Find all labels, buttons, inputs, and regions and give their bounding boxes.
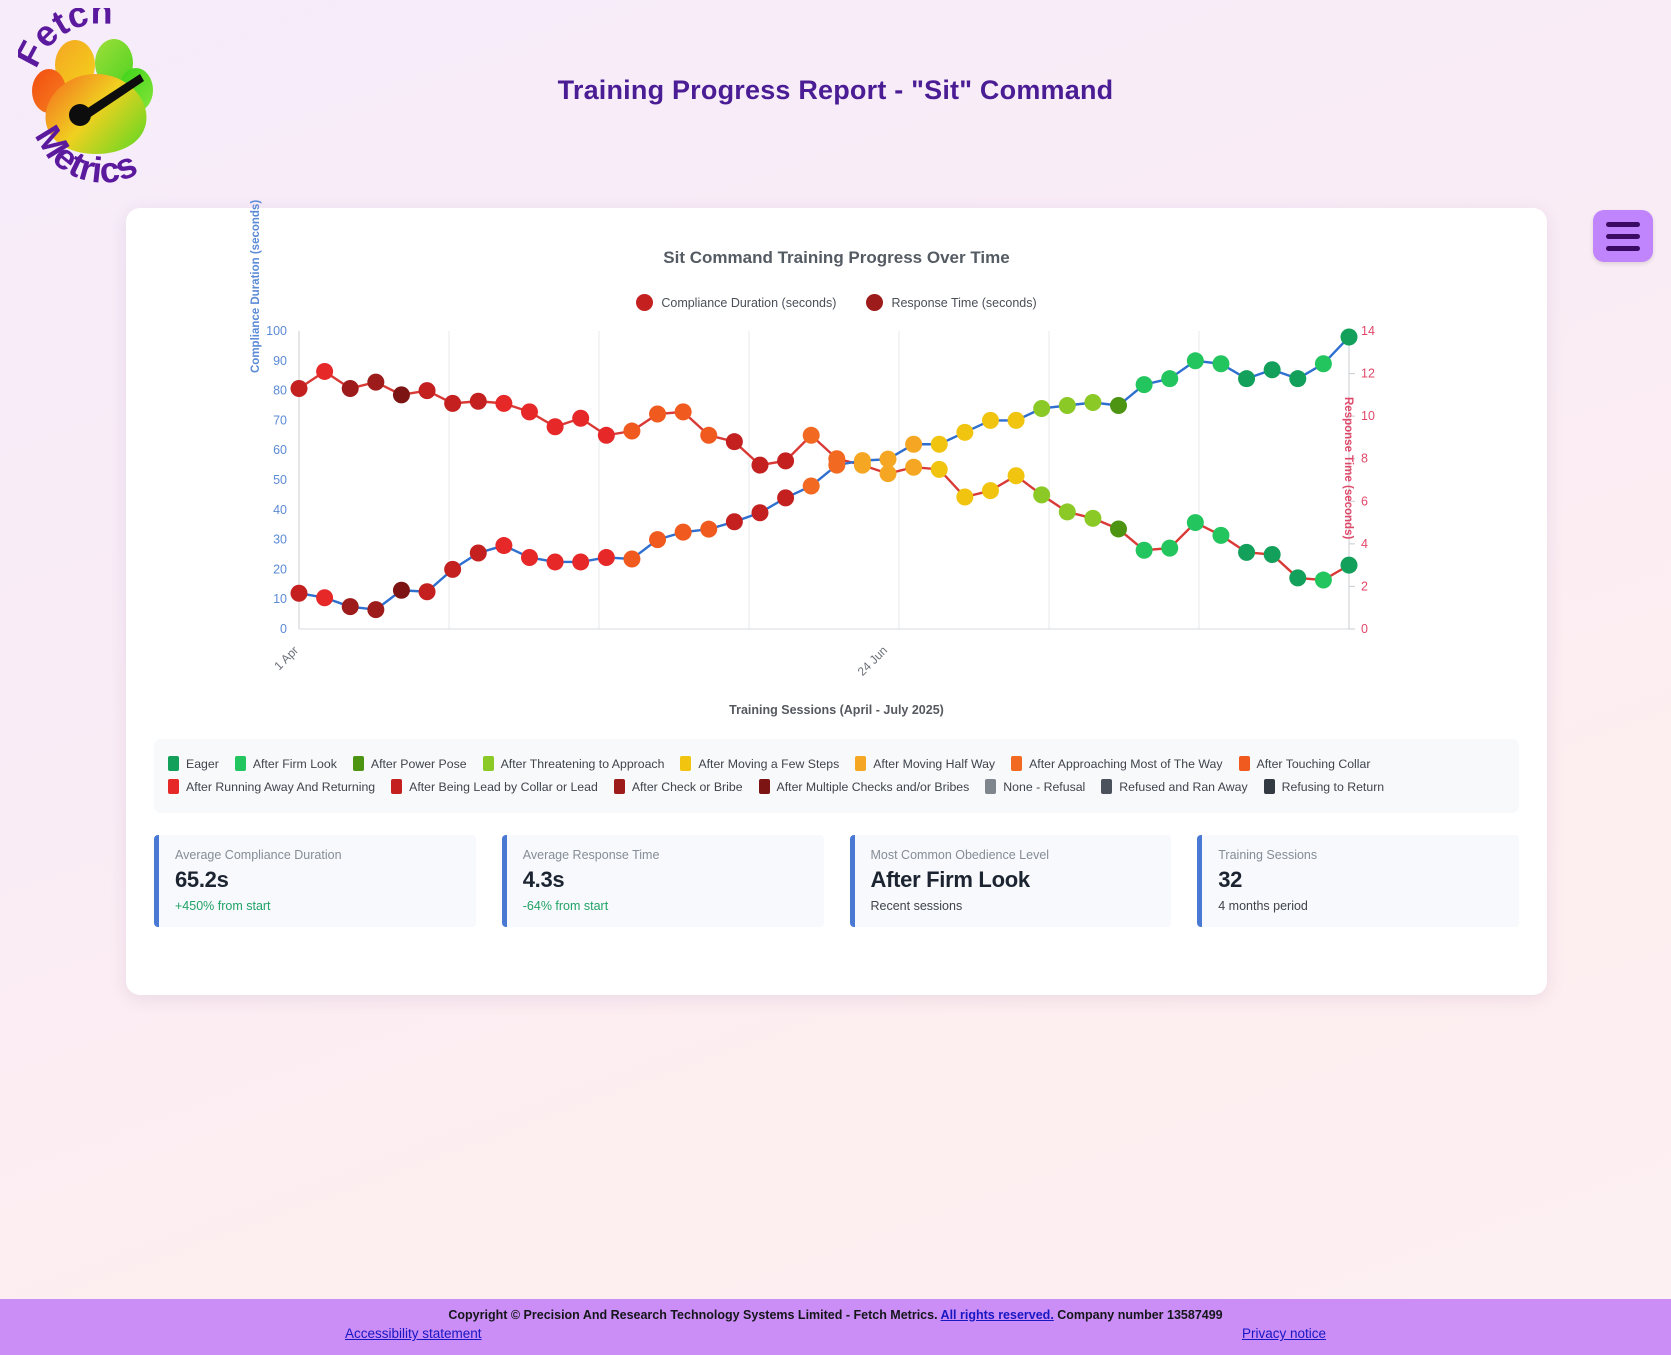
stat-card: Average Response Time4.3s-64% from start — [502, 835, 824, 927]
legend-swatch-icon — [235, 756, 246, 771]
response-point — [342, 380, 359, 397]
svg-text:14: 14 — [1361, 324, 1375, 338]
compliance-point — [726, 513, 743, 530]
series-legend: Compliance Duration (seconds)Response Ti… — [154, 294, 1519, 311]
accessibility-statement-link[interactable]: Accessibility statement — [345, 1326, 482, 1341]
compliance-point — [470, 545, 487, 562]
chart-title: Sit Command Training Progress Over Time — [154, 248, 1519, 268]
response-point — [419, 382, 436, 399]
category-legend-label: After Moving a Few Steps — [698, 757, 839, 771]
menu-bar-2 — [1606, 234, 1640, 239]
footer-copy-before: Copyright © Precision And Research Techn… — [448, 1308, 940, 1322]
svg-text:0: 0 — [280, 622, 287, 636]
stat-value: 4.3s — [523, 867, 808, 893]
compliance-point — [982, 412, 999, 429]
category-legend-label: After Power Pose — [371, 757, 467, 771]
response-point — [931, 461, 948, 478]
response-point — [1161, 540, 1178, 557]
series-legend-item[interactable]: Response Time (seconds) — [866, 294, 1036, 311]
category-legend-label: Eager — [186, 757, 219, 771]
response-point — [675, 403, 692, 420]
legend-swatch-icon — [985, 779, 996, 794]
compliance-point — [316, 589, 333, 606]
legend-swatch-icon — [759, 779, 770, 794]
category-legend-item[interactable]: After Touching Collar — [1239, 756, 1371, 771]
compliance-point — [623, 550, 640, 567]
response-point — [726, 433, 743, 450]
response-point — [649, 406, 666, 423]
compliance-point — [1136, 376, 1153, 393]
response-point — [982, 482, 999, 499]
response-point — [393, 386, 410, 403]
category-legend-label: After Approaching Most of The Way — [1029, 757, 1222, 771]
compliance-point — [547, 553, 564, 570]
stat-subtext: -64% from start — [523, 899, 808, 913]
compliance-point — [1315, 355, 1332, 372]
stat-value: After Firm Look — [871, 867, 1156, 893]
category-legend-label: After Firm Look — [253, 757, 337, 771]
response-point — [1008, 467, 1025, 484]
response-point — [1238, 544, 1255, 561]
svg-text:70: 70 — [273, 413, 287, 427]
compliance-point — [854, 452, 871, 469]
legend-swatch-icon — [1264, 779, 1275, 794]
svg-text:12: 12 — [1361, 367, 1375, 381]
svg-text:2: 2 — [1361, 579, 1368, 593]
response-point — [1136, 542, 1153, 559]
category-legend-label: Refused and Ran Away — [1119, 780, 1247, 794]
stat-subtext: +450% from start — [175, 899, 460, 913]
category-legend-item[interactable]: After Power Pose — [353, 756, 467, 771]
svg-text:0: 0 — [1361, 622, 1368, 636]
compliance-point — [1238, 370, 1255, 387]
compliance-point — [444, 561, 461, 578]
y-axis-right-label: Response Time (seconds) — [1342, 397, 1354, 539]
category-legend-item[interactable]: After Moving a Few Steps — [680, 756, 839, 771]
response-point — [1110, 520, 1127, 537]
response-point — [1033, 486, 1050, 503]
compliance-point — [1008, 412, 1025, 429]
footer-copyright: Copyright © Precision And Research Techn… — [0, 1308, 1671, 1322]
category-legend-item[interactable]: Refused and Ran Away — [1101, 779, 1247, 794]
svg-text:1 Apr: 1 Apr — [271, 643, 301, 673]
compliance-point — [393, 582, 410, 599]
response-point — [1059, 503, 1076, 520]
svg-text:20: 20 — [273, 562, 287, 576]
chart-plot-area: Compliance Duration (seconds) Response T… — [154, 317, 1519, 687]
response-point — [444, 395, 461, 412]
response-point — [495, 395, 512, 412]
svg-text:50: 50 — [273, 473, 287, 487]
series-legend-label: Compliance Duration (seconds) — [661, 296, 836, 310]
response-point — [700, 427, 717, 444]
hamburger-menu-icon[interactable] — [1593, 210, 1653, 262]
category-legend-item[interactable]: Eager — [168, 756, 219, 771]
compliance-point — [1059, 397, 1076, 414]
legend-swatch-icon — [1239, 756, 1250, 771]
legend-swatch-icon — [391, 779, 402, 794]
compliance-point — [700, 521, 717, 538]
compliance-point — [1084, 394, 1101, 411]
category-legend-label: Refusing to Return — [1282, 780, 1385, 794]
response-point — [1289, 569, 1306, 586]
category-legend-item[interactable]: After Being Lead by Collar or Lead — [391, 779, 598, 794]
category-legend-label: After Threatening to Approach — [501, 757, 665, 771]
response-point — [751, 457, 768, 474]
svg-text:24 Jun: 24 Jun — [855, 643, 890, 678]
legend-dot-icon — [636, 294, 653, 311]
stat-card: Average Compliance Duration65.2s+450% fr… — [154, 835, 476, 927]
compliance-point — [495, 537, 512, 554]
category-legend-item[interactable]: After Approaching Most of The Way — [1011, 756, 1222, 771]
response-point — [1315, 572, 1332, 589]
legend-swatch-icon — [680, 756, 691, 771]
category-legend-item[interactable]: After Threatening to Approach — [483, 756, 665, 771]
category-legend-item[interactable]: None - Refusal — [985, 779, 1085, 794]
stat-label: Most Common Obedience Level — [871, 848, 1156, 862]
page-title: Training Progress Report - "Sit" Command — [0, 75, 1671, 106]
compliance-point — [1110, 397, 1127, 414]
svg-text:6: 6 — [1361, 494, 1368, 508]
compliance-point — [649, 531, 666, 548]
svg-text:10: 10 — [273, 592, 287, 606]
compliance-point — [828, 457, 845, 474]
response-point — [803, 427, 820, 444]
privacy-notice-link[interactable]: Privacy notice — [1242, 1326, 1326, 1341]
menu-bar-1 — [1606, 222, 1640, 227]
category-legend-label: After Touching Collar — [1257, 757, 1371, 771]
response-point — [905, 459, 922, 476]
response-point — [1212, 527, 1229, 544]
svg-text:60: 60 — [273, 443, 287, 457]
compliance-point — [880, 451, 897, 468]
x-axis-title: Training Sessions (April - July 2025) — [154, 703, 1519, 717]
category-legend: EagerAfter Firm LookAfter Power PoseAfte… — [154, 739, 1519, 813]
response-point — [1084, 510, 1101, 527]
response-point — [1187, 514, 1204, 531]
legend-swatch-icon — [855, 756, 866, 771]
response-point — [1341, 557, 1358, 574]
footer-copy-after: Company number 13587499 — [1054, 1308, 1223, 1322]
svg-text:100: 100 — [266, 324, 287, 338]
svg-text:90: 90 — [273, 354, 287, 368]
compliance-point — [803, 477, 820, 494]
category-legend-label: After Running Away And Returning — [186, 780, 375, 794]
compliance-point — [956, 424, 973, 441]
response-point — [367, 374, 384, 391]
category-legend-item[interactable]: Refusing to Return — [1264, 779, 1385, 794]
category-legend-item[interactable]: After Firm Look — [235, 756, 337, 771]
compliance-point — [291, 585, 308, 602]
compliance-point — [931, 436, 948, 453]
category-legend-item[interactable]: After Running Away And Returning — [168, 779, 375, 794]
stat-label: Training Sessions — [1218, 848, 1503, 862]
response-point — [547, 418, 564, 435]
stat-value: 65.2s — [175, 867, 460, 893]
legend-swatch-icon — [614, 779, 625, 794]
response-point — [956, 489, 973, 506]
response-point — [291, 380, 308, 397]
line-chart-svg: 0102030405060708090100024681012141 Apr24… — [154, 317, 1519, 687]
response-point — [316, 363, 333, 380]
compliance-point — [1341, 328, 1358, 345]
compliance-point — [572, 553, 589, 570]
category-legend-item[interactable]: After Multiple Checks and/or Bribes — [759, 779, 970, 794]
legend-swatch-icon — [168, 756, 179, 771]
stat-card: Most Common Obedience LevelAfter Firm Lo… — [850, 835, 1172, 927]
category-legend-item[interactable]: After Moving Half Way — [855, 756, 995, 771]
legend-swatch-icon — [353, 756, 364, 771]
report-card: Sit Command Training Progress Over Time … — [126, 208, 1547, 995]
compliance-point — [777, 489, 794, 506]
response-point — [521, 403, 538, 420]
response-point — [598, 427, 615, 444]
svg-text:8: 8 — [1361, 452, 1368, 466]
stat-cards: Average Compliance Duration65.2s+450% fr… — [154, 835, 1519, 927]
site-footer: Copyright © Precision And Research Techn… — [0, 1299, 1671, 1355]
category-legend-label: After Check or Bribe — [632, 780, 743, 794]
category-legend-label: After Being Lead by Collar or Lead — [409, 780, 598, 794]
legend-dot-icon — [866, 294, 883, 311]
stat-subtext: Recent sessions — [871, 899, 1156, 913]
compliance-point — [1289, 370, 1306, 387]
compliance-point — [1187, 352, 1204, 369]
response-point — [623, 423, 640, 440]
category-legend-item[interactable]: After Check or Bribe — [614, 779, 743, 794]
response-point — [470, 393, 487, 410]
y-axis-left-label: Compliance Duration (seconds) — [250, 200, 262, 373]
stat-subtext: 4 months period — [1218, 899, 1503, 913]
response-point — [572, 410, 589, 427]
compliance-point — [1212, 355, 1229, 372]
legend-swatch-icon — [168, 779, 179, 794]
svg-text:40: 40 — [273, 503, 287, 517]
compliance-point — [419, 583, 436, 600]
svg-text:4: 4 — [1361, 537, 1368, 551]
compliance-point — [342, 598, 359, 615]
response-point — [777, 452, 794, 469]
stat-label: Average Compliance Duration — [175, 848, 460, 862]
legend-swatch-icon — [483, 756, 494, 771]
category-legend-label: After Multiple Checks and/or Bribes — [777, 780, 970, 794]
menu-bar-3 — [1606, 246, 1640, 251]
svg-text:80: 80 — [273, 384, 287, 398]
compliance-point — [598, 549, 615, 566]
legend-swatch-icon — [1101, 779, 1112, 794]
compliance-point — [521, 549, 538, 566]
stat-value: 32 — [1218, 867, 1503, 893]
all-rights-reserved-link[interactable]: All rights reserved. — [941, 1308, 1054, 1322]
compliance-point — [1033, 400, 1050, 417]
category-legend-label: After Moving Half Way — [873, 757, 995, 771]
series-legend-item[interactable]: Compliance Duration (seconds) — [636, 294, 836, 311]
stat-label: Average Response Time — [523, 848, 808, 862]
svg-text:30: 30 — [273, 533, 287, 547]
response-point — [1264, 546, 1281, 563]
series-legend-label: Response Time (seconds) — [891, 296, 1036, 310]
compliance-point — [1161, 370, 1178, 387]
category-legend-label: None - Refusal — [1003, 780, 1085, 794]
compliance-point — [367, 601, 384, 618]
svg-text:10: 10 — [1361, 409, 1375, 423]
response-point — [880, 465, 897, 482]
compliance-point — [675, 524, 692, 541]
compliance-point — [905, 436, 922, 453]
stat-card: Training Sessions324 months period — [1197, 835, 1519, 927]
compliance-point — [1264, 361, 1281, 378]
legend-swatch-icon — [1011, 756, 1022, 771]
compliance-point — [751, 504, 768, 521]
